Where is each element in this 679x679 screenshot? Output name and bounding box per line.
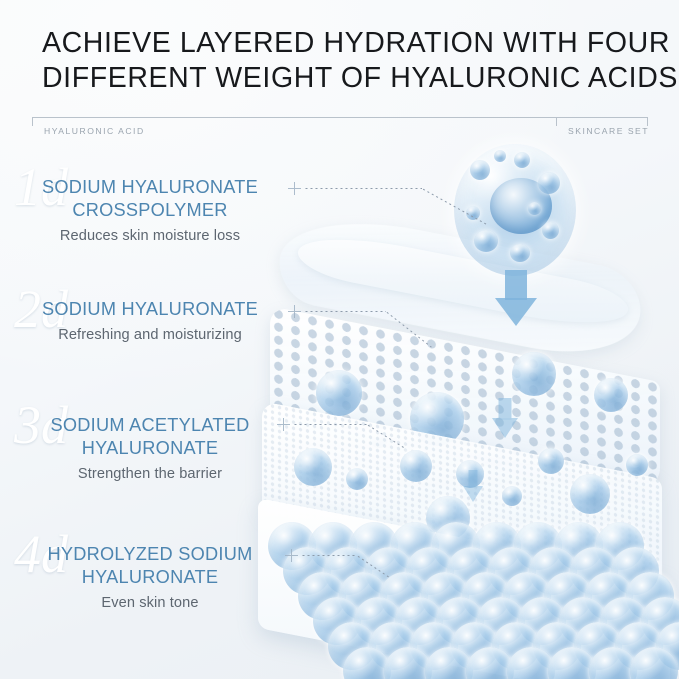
ingredient-item-4[interactable]: 4d HYDROLYZED SODIUM HYALURONATE Even sk… [0,543,300,613]
ingredient-benefit: Strengthen the barrier [0,465,300,484]
ingredient-benefit: Refreshing and moisturizing [0,326,300,345]
divider-label-left: HYALURONIC ACID [44,126,145,136]
title-line-1: ACHIEVE LAYERED HYDRATION WITH FOUR [42,26,642,61]
ingredient-name: SODIUM ACETYLATED HYALURONATE [0,414,300,460]
divider-tick-right [647,117,648,126]
flow-arrow-2 [490,398,520,440]
inner-bubble [542,222,559,239]
crosspolymer-sphere [454,144,576,276]
ingredient-benefit: Reduces skin moisture loss [0,227,300,246]
ingredient-item-1[interactable]: 1d SODIUM HYALURONATE CROSSPOLYMER Reduc… [0,176,300,246]
divider-tick-left [32,117,33,126]
ingredient-name: SODIUM HYALURONATE CROSSPOLYMER [0,176,300,222]
layer-stack-illustration [250,130,679,679]
page-title: ACHIEVE LAYERED HYDRATION WITH FOUR DIFF… [42,26,642,96]
layer3-sphere [570,474,610,514]
inner-bubble [510,244,530,262]
layer2-sphere [594,378,628,412]
flow-arrow-3 [462,470,484,504]
layer3-sphere [538,448,564,474]
inner-bubble [514,152,530,168]
ingredient-item-3[interactable]: 3d SODIUM ACETYLATED HYALURONATE Strengt… [0,414,300,484]
layer3-sphere [346,468,368,490]
layer2-sphere [316,370,362,416]
inner-bubble [494,150,506,162]
ingredient-item-2[interactable]: 2d SODIUM HYALURONATE Refreshing and moi… [0,298,300,345]
inner-bubble [466,206,480,220]
inner-bubble [470,160,490,180]
layer2-sphere [512,352,556,396]
inner-bubble [474,230,498,252]
flow-arrow-1 [494,270,538,328]
layer3-sphere [400,450,432,482]
inner-bubble [528,202,541,215]
layer3-sphere [502,486,522,506]
ingredient-name: HYDROLYZED SODIUM HYALURONATE [0,543,300,589]
divider-tick-middle [556,117,557,126]
infographic-canvas: ACHIEVE LAYERED HYDRATION WITH FOUR DIFF… [0,0,679,679]
title-line-2: DIFFERENT WEIGHT OF HYALURONIC ACIDS [42,61,642,96]
ingredient-name: SODIUM HYALURONATE [0,298,300,321]
ingredient-benefit: Even skin tone [0,594,300,613]
inner-bubble [538,172,560,194]
layer3-sphere [626,454,648,476]
